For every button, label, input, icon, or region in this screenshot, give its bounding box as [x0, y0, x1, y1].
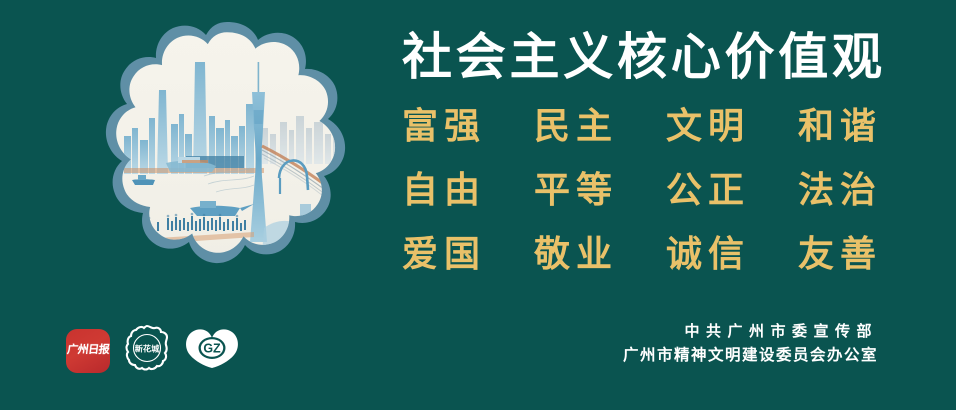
guangzhou-skyline-medallion-svg	[104, 18, 350, 296]
poster-root: 社 会 主 义 核 心 价 值 观 富强 民主 文明 和谐 自由 平等 公正 法…	[0, 0, 956, 410]
illustration-medallion	[104, 18, 350, 296]
title-char: 核	[617, 26, 667, 88]
guangzhou-daily-logo[interactable]: 广州日报	[66, 329, 110, 373]
value-term: 民主	[534, 94, 618, 158]
value-term: 富强	[402, 94, 486, 158]
xin-hua-cheng-logo[interactable]: 新花城 新花城	[122, 323, 172, 378]
title-char: 价	[725, 26, 775, 88]
title-char: 义	[563, 26, 613, 88]
value-term: 法治	[798, 158, 882, 222]
title-char: 值	[778, 26, 828, 88]
guangzhou-daily-logo-text: 广州日报	[66, 345, 109, 356]
value-term: 爱国	[402, 222, 486, 286]
value-term: 文明	[666, 94, 750, 158]
value-row-1: 富强 民主 文明 和谐	[402, 94, 882, 158]
value-term: 和谐	[798, 94, 882, 158]
title-char: 主	[510, 26, 560, 88]
gz-city-logo-text: GZ	[203, 342, 221, 356]
title-char: 社	[402, 26, 452, 88]
logo-strip: 广州日报 新花城 新花城 GZ GZ	[66, 323, 240, 378]
title-char: 心	[671, 26, 721, 88]
xin-hua-cheng-logo-text: 新花城	[135, 344, 160, 354]
value-row-3: 爱国 敬业 诚信 友善	[402, 222, 882, 286]
value-term: 友善	[798, 222, 882, 286]
value-term: 自由	[402, 158, 486, 222]
gz-city-logo-icon: GZ	[184, 327, 240, 369]
attribution: 中共广州市委宣传部 广州市精神文明建设委员会办公室	[623, 320, 878, 368]
gz-city-label: GZ	[240, 327, 241, 328]
xin-hua-cheng-logo-icon: 新花城	[122, 323, 172, 373]
page-title: 社 会 主 义 核 心 价 值 观	[402, 26, 882, 88]
text-column: 社 会 主 义 核 心 价 值 观 富强 民主 文明 和谐 自由 平等 公正 法…	[398, 26, 890, 316]
value-term: 敬业	[534, 222, 618, 286]
value-term: 平等	[534, 158, 618, 222]
value-term: 公正	[666, 158, 750, 222]
value-row-2: 自由 平等 公正 法治	[402, 158, 882, 222]
title-char: 观	[832, 26, 882, 88]
attribution-line-1: 中共广州市委宣传部	[623, 320, 878, 344]
xin-hua-cheng-label: 新花城	[172, 323, 173, 324]
value-term: 诚信	[666, 222, 750, 286]
title-char: 会	[456, 26, 506, 88]
attribution-line-2: 广州市精神文明建设委员会办公室	[623, 344, 878, 368]
gz-city-logo[interactable]: GZ GZ	[184, 327, 240, 374]
